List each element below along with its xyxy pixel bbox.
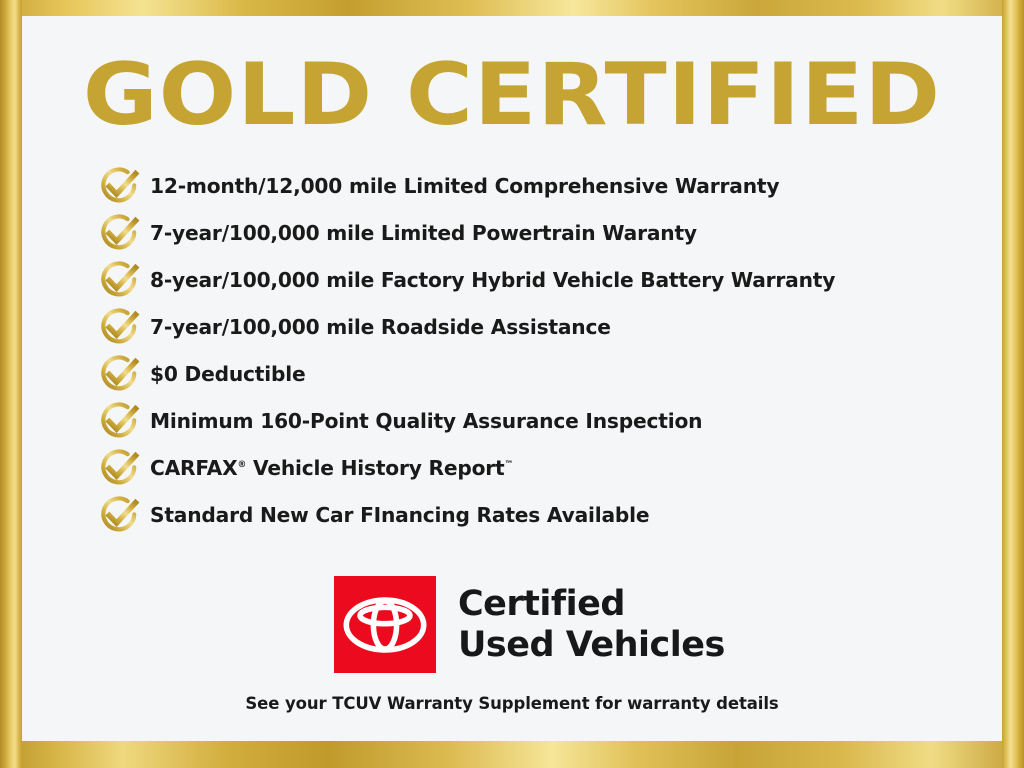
gold-check-circle-icon [97, 446, 150, 490]
benefit-row: Minimum 160-Point Quality Assurance Insp… [97, 397, 1002, 444]
lockup-line-1: Certified [458, 584, 725, 624]
gold-check-circle-icon [97, 446, 141, 490]
gold-check-circle-icon [97, 352, 150, 396]
benefit-label: Minimum 160-Point Quality Assurance Insp… [150, 409, 702, 433]
toyota-certified-used-vehicles-lockup: Certified Used Vehicles [334, 576, 725, 673]
gold-check-circle-icon [97, 258, 150, 302]
benefit-label: 7-year/100,000 mile Roadside Assistance [150, 315, 611, 339]
gold-check-circle-icon [97, 399, 141, 443]
gold-border-right [1002, 0, 1024, 768]
gold-border-left [0, 0, 22, 768]
gold-check-circle-icon [97, 211, 150, 255]
benefit-label: Standard New Car FInancing Rates Availab… [150, 503, 649, 527]
warranty-footnote: See your TCUV Warranty Supplement for wa… [22, 694, 1002, 713]
benefit-label: 12-month/12,000 mile Limited Comprehensi… [150, 174, 779, 198]
gold-check-circle-icon [97, 164, 141, 208]
gold-check-circle-icon [97, 211, 141, 255]
gold-border-bottom [0, 741, 1024, 768]
lockup-wordmark: Certified Used Vehicles [458, 584, 725, 665]
benefit-row: 7-year/100,000 mile Roadside Assistance [97, 303, 1002, 350]
gold-check-circle-icon [97, 493, 141, 537]
benefit-label: 8-year/100,000 mile Factory Hybrid Vehic… [150, 268, 835, 292]
benefit-row: Standard New Car FInancing Rates Availab… [97, 491, 1002, 538]
benefit-row: $0 Deductible [97, 350, 1002, 397]
benefit-row: 12-month/12,000 mile Limited Comprehensi… [97, 162, 1002, 209]
gold-check-circle-icon [97, 352, 141, 396]
gold-check-circle-icon [97, 305, 141, 349]
lockup-line-2: Used Vehicles [458, 625, 725, 665]
benefit-row: 8-year/100,000 mile Factory Hybrid Vehic… [97, 256, 1002, 303]
benefit-row: 7-year/100,000 mile Limited Powertrain W… [97, 209, 1002, 256]
benefit-label: 7-year/100,000 mile Limited Powertrain W… [150, 221, 697, 245]
toyota-emblem-icon [342, 594, 428, 656]
page-title: GOLD CERTIFIED [0, 52, 1024, 138]
benefit-label: CARFAX® Vehicle History Report™ [150, 456, 513, 480]
content-panel: GOLD CERTIFIED 12-month/12,000 mile Limi… [22, 16, 1002, 741]
benefit-row: CARFAX® Vehicle History Report™ [97, 444, 1002, 491]
gold-check-circle-icon [97, 493, 150, 537]
gold-check-circle-icon [97, 305, 150, 349]
benefits-list: 12-month/12,000 mile Limited Comprehensi… [97, 162, 1002, 538]
gold-check-circle-icon [97, 258, 141, 302]
benefit-label: $0 Deductible [150, 362, 305, 386]
gold-check-circle-icon [97, 399, 150, 443]
gold-certified-poster: GOLD CERTIFIED 12-month/12,000 mile Limi… [0, 0, 1024, 768]
gold-check-circle-icon [97, 164, 150, 208]
gold-border-top [0, 0, 1024, 16]
toyota-logo-tile [334, 576, 436, 673]
